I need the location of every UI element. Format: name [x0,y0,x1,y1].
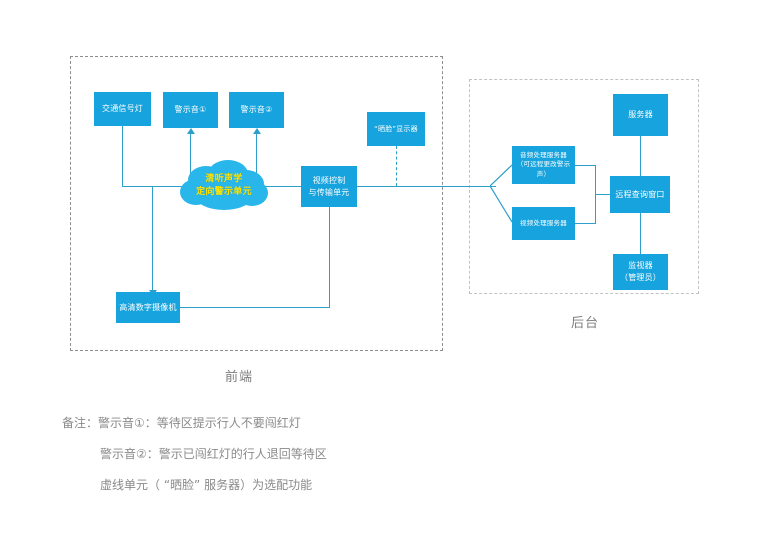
node-main-server-label: 服务器 [628,109,653,121]
node-directional-unit-line1: 清听声学 [205,173,242,187]
node-face-display-label: “晒脸”显示器 [374,124,418,134]
connector-dashed-face-display [396,146,397,186]
node-monitor[interactable]: 监视器 （管理员） [613,254,668,290]
node-video-control-unit-line2: 与传输单元 [309,187,350,199]
connector-main-server-down [640,136,641,177]
connector-video-server-out [574,223,596,224]
node-warning-sound-1-label: 警示音① [175,104,207,116]
arrow-to-warning-sound-1 [187,128,195,134]
footnote-line-2: 警示音②：警示已闯红灯的行人退回等待区 [62,448,327,461]
region-frontend-label: 前端 [225,366,253,385]
node-remote-query-window-label: 远程查询窗口 [615,189,664,201]
arrow-to-warning-sound-2 [253,128,261,134]
footnote-line-3: 虚线单元（ “晒脸” 服务器）为选配功能 [62,479,327,492]
connector-bus-to-camera [152,186,153,290]
connector-video-unit-up [329,206,330,307]
node-face-display[interactable]: “晒脸”显示器 [367,112,425,146]
node-remote-query-window[interactable]: 远程查询窗口 [610,176,670,213]
connector-remote-window-to-monitor [640,212,641,254]
node-audio-server-line1: 音频处理服务器 [520,151,567,160]
region-backend-label: 后台 [571,312,599,331]
node-main-server[interactable]: 服务器 [613,94,668,136]
diagram-canvas: 前端 后台 交通信号灯 警示音① 警示音② [0,0,778,538]
node-warning-sound-1[interactable]: 警示音① [163,92,218,128]
connector-camera-to-video-unit [180,307,330,308]
node-hd-camera-label: 高清数字摄像机 [119,302,176,314]
node-directional-warning-unit[interactable]: 清听声学 定向警示单元 [176,160,272,212]
node-video-server[interactable]: 视频处理服务器 [512,207,575,240]
node-monitor-line1: 监视器 [628,260,653,272]
connector-traffic-light-down [122,126,123,186]
node-audio-server-line2: （可远程更改警示声） [514,160,573,179]
node-video-server-label: 视频处理服务器 [520,219,567,228]
node-monitor-line2: （管理员） [620,272,661,284]
footnotes: 备注：警示音①：等待区提示行人不要闯红灯 警示音②：警示已闯红灯的行人退回等待区… [62,417,327,511]
node-video-control-unit[interactable]: 视频控制 与传输单元 [301,166,357,207]
node-audio-server[interactable]: 音频处理服务器 （可远程更改警示声） [512,146,575,184]
node-traffic-light[interactable]: 交通信号灯 [94,92,151,126]
footnote-line-1: 备注：警示音①：等待区提示行人不要闯红灯 [62,417,327,430]
node-hd-camera[interactable]: 高清数字摄像机 [116,292,180,323]
connector-video-unit-to-backend [356,186,496,187]
node-video-control-unit-line1: 视频控制 [313,175,346,187]
node-traffic-light-label: 交通信号灯 [102,103,143,115]
node-warning-sound-2-label: 警示音② [241,104,273,116]
node-warning-sound-2[interactable]: 警示音② [229,92,284,128]
node-directional-unit-line2: 定向警示单元 [196,186,252,200]
connector-audio-server-out [574,165,596,166]
